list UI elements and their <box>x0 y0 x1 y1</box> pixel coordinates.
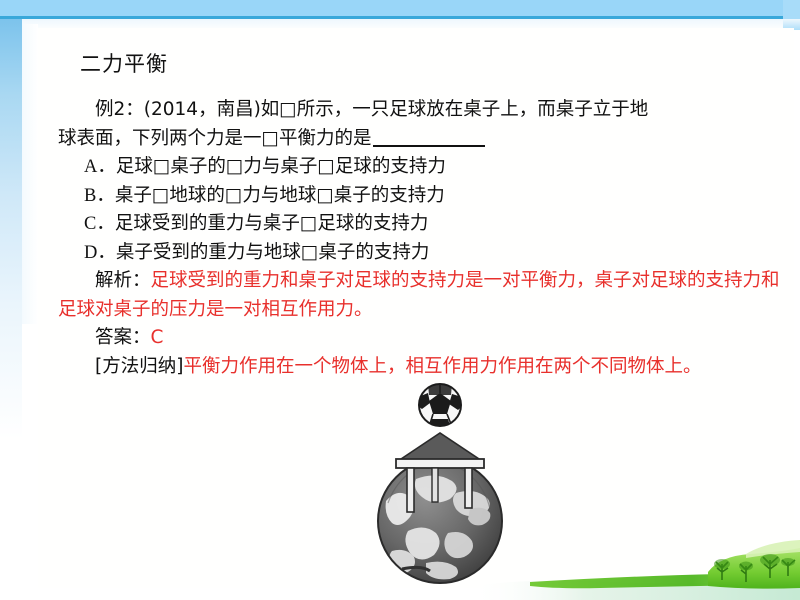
answer-value: C <box>151 327 164 348</box>
top-banner <box>0 0 800 16</box>
question-stem-line-2-text: 球表面，下列两个力是一□平衡力的是 <box>58 128 371 149</box>
option-d-key: D <box>84 243 97 263</box>
page-title: 二力平衡 <box>80 50 168 78</box>
option-c-sep: ． <box>96 213 115 234</box>
earth-globe <box>378 459 502 583</box>
option-d[interactable]: D．桌子受到的重力与地球□桌子的支持力 <box>58 239 780 268</box>
left-gradient-rail <box>0 19 22 439</box>
option-d-text: 桌子受到的重力与地球□桌子的支持力 <box>116 242 429 263</box>
option-list: A．足球□桌子的□力与桌子□足球的支持力 B．桌子□地球的□力与地球□桌子的支持… <box>58 153 780 267</box>
option-a-sep: ． <box>97 156 116 177</box>
option-a[interactable]: A．足球□桌子的□力与桌子□足球的支持力 <box>58 153 780 182</box>
option-c-text: 足球受到的重力与桌子□足球的支持力 <box>115 213 428 234</box>
option-b-text: 桌子□地球的□力与地球□桌子的支持力 <box>115 185 445 206</box>
option-b[interactable]: B．桌子□地球的□力与地球□桌子的支持力 <box>58 182 780 211</box>
analysis-text: 足球受到的重力和桌子对足球的支持力是一对平衡力，桌子对足球的支持力和足球对桌子的… <box>58 270 780 320</box>
physics-illustration <box>352 383 528 588</box>
analysis-label: 解析： <box>95 270 151 291</box>
slide-canvas: 二力平衡 例2：(2014，南昌)如□所示，一只足球放在桌子上，而桌子立于地 球… <box>0 0 800 600</box>
answer-blank-underline[interactable] <box>373 145 485 147</box>
analysis-paragraph: 解析：足球受到的重力和桌子对足球的支持力是一对平衡力，桌子对足球的支持力和足球对… <box>58 267 780 324</box>
option-c-key: C <box>84 214 96 234</box>
content-block: 例2：(2014，南昌)如□所示，一只足球放在桌子上，而桌子立于地 球表面，下列… <box>58 96 780 381</box>
option-b-sep: ． <box>96 185 115 206</box>
summary-paragraph: [方法归纳]平衡力作用在一个物体上，相互作用力作用在两个不同物体上。 <box>58 353 780 382</box>
option-b-key: B <box>84 186 96 206</box>
soccer-ball <box>415 383 465 429</box>
option-c[interactable]: C．足球受到的重力与桌子□足球的支持力 <box>58 210 780 239</box>
answer-paragraph: 答案：C <box>58 324 780 353</box>
question-stem-line-1: 例2：(2014，南昌)如□所示，一只足球放在桌子上，而桌子立于地 <box>58 96 780 125</box>
summary-text: 平衡力作用在一个物体上，相互作用力作用在两个不同物体上。 <box>183 356 701 377</box>
option-a-key: A <box>84 157 97 177</box>
summary-label: [方法归纳] <box>95 356 183 377</box>
answer-label: 答案： <box>95 327 151 348</box>
question-stem-line-2: 球表面，下列两个力是一□平衡力的是 <box>58 125 780 154</box>
option-a-text: 足球□桌子的□力与桌子□足球的支持力 <box>116 156 446 177</box>
left-rail-inner-fade <box>22 24 38 324</box>
option-d-sep: ． <box>97 242 116 263</box>
